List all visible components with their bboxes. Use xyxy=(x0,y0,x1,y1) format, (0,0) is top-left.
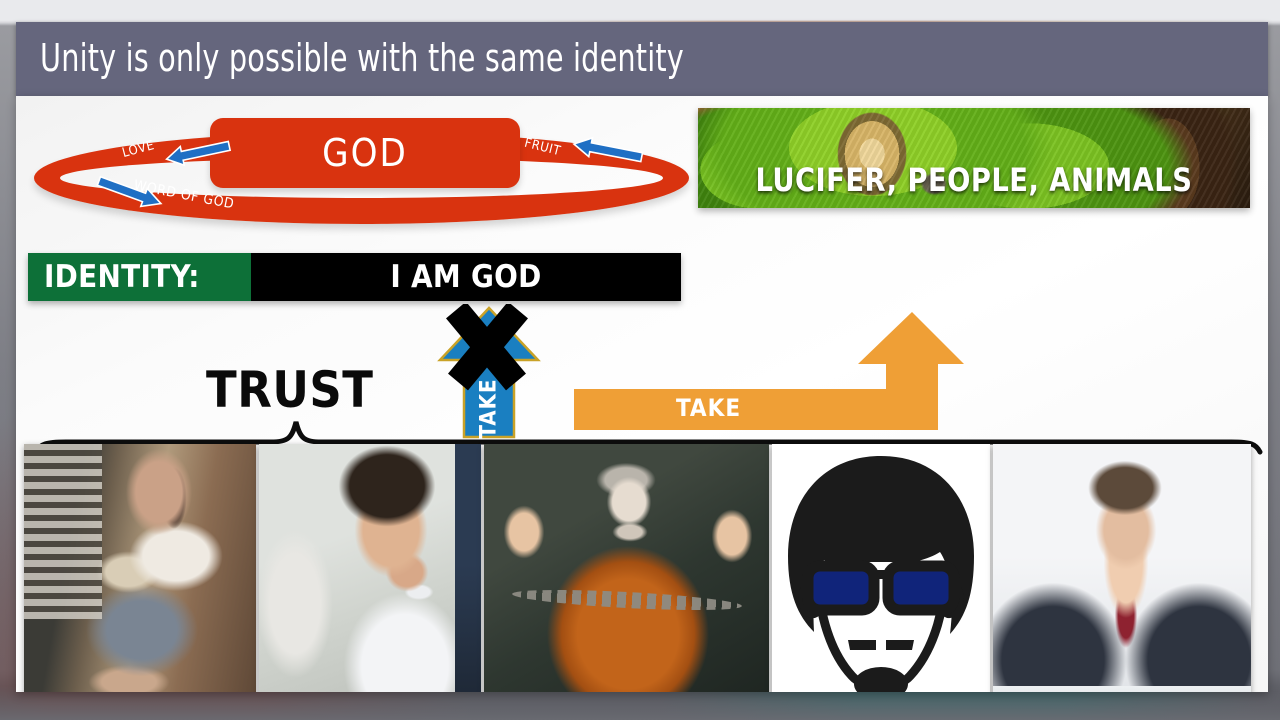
slide-title-bar: Unity is only possible with the same ide… xyxy=(16,22,1268,96)
snake-image-card: LUCIFER, PEOPLE, ANIMALS xyxy=(698,108,1250,208)
orange-arrow-label: TAKE xyxy=(676,394,741,422)
identity-value: I AM GOD xyxy=(390,259,541,295)
identity-label-box: IDENTITY: xyxy=(28,253,251,301)
arrow-right-blue-word-of-god xyxy=(92,180,168,210)
identity-value-box: I AM GOD xyxy=(251,253,681,301)
arrow-left-blue-love xyxy=(162,140,234,166)
snake-caption: LUCIFER, PEOPLE, ANIMALS xyxy=(698,161,1250,199)
photo-facepalm-businessman xyxy=(993,444,1251,692)
slide-body: GOD LOVE WORD OF GOD FRUIT xyxy=(16,96,1268,692)
god-label: GOD xyxy=(210,118,520,188)
photo-homeless-man xyxy=(24,444,256,692)
orange-take-arrow: TAKE xyxy=(546,306,966,436)
blue-take-arrow: TAKE xyxy=(434,304,544,439)
x-cross-icon xyxy=(434,304,544,439)
god-box: GOD xyxy=(210,118,520,188)
photo-pensive-man xyxy=(259,444,481,692)
photo-chained-prisoner xyxy=(484,444,769,692)
photo-strip xyxy=(24,444,1260,692)
identity-label: IDENTITY: xyxy=(44,259,200,295)
photo-cartoon-face xyxy=(772,444,990,692)
god-cycle-diagram: GOD LOVE WORD OF GOD FRUIT xyxy=(34,118,689,233)
identity-bar: IDENTITY: I AM GOD xyxy=(28,253,681,301)
slide: Unity is only possible with the same ide… xyxy=(16,22,1268,692)
arrow-left-blue-fruit xyxy=(568,138,646,166)
cartoon-face-icon xyxy=(772,444,990,692)
page-title: Unity is only possible with the same ide… xyxy=(40,36,807,80)
